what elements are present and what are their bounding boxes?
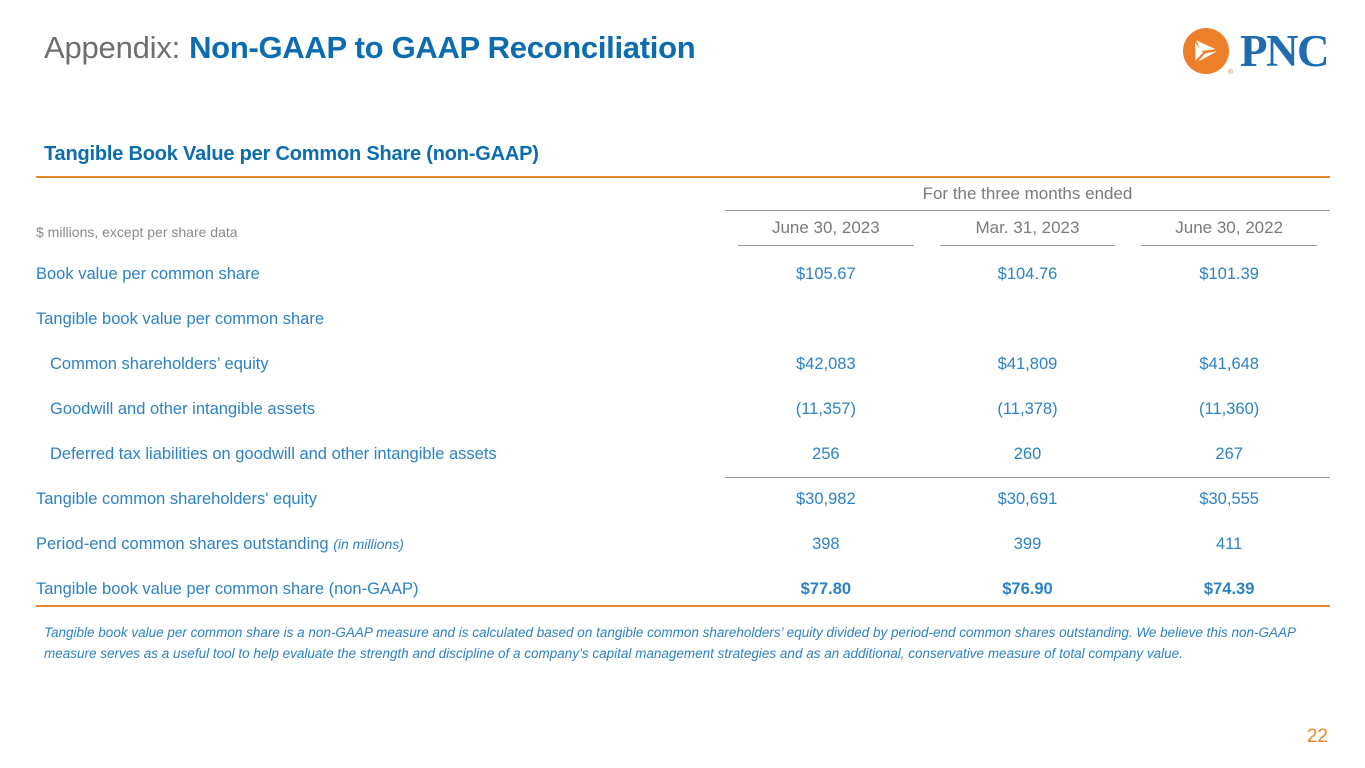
slide-root: Appendix: Non-GAAP to GAAP Reconciliatio… (0, 0, 1365, 768)
column-header-mar-31-2023: Mar. 31, 2023 (927, 212, 1129, 252)
table-body: Book value per common share $105.67 $104… (36, 252, 1330, 612)
section-heading: Tangible Book Value per Common Share (no… (44, 143, 539, 166)
row-label-text: Period-end common shares outstanding (36, 535, 329, 553)
page-number: 22 (1307, 726, 1328, 748)
row-value: (11,378) (927, 387, 1129, 432)
row-value: $104.76 (927, 252, 1129, 297)
table-head: For the three months ended $ millions, e… (36, 182, 1330, 252)
table-row: Tangible book value per common share (36, 297, 1330, 342)
row-value: $42,083 (725, 342, 927, 387)
row-value: 256 (725, 432, 927, 477)
units-note: $ millions, except per share data (36, 212, 725, 252)
row-value: 260 (927, 432, 1129, 477)
row-value: 411 (1128, 522, 1330, 567)
pnc-logo: ® PNC (1182, 27, 1328, 75)
row-value: $41,809 (927, 342, 1129, 387)
slide-header: Appendix: Non-GAAP to GAAP Reconciliatio… (0, 0, 1365, 104)
row-value: $30,691 (927, 477, 1129, 522)
table-row: Period-end common shares outstanding (in… (36, 522, 1330, 567)
row-value: (11,357) (725, 387, 927, 432)
row-label-period-end-common-shares-outstanding: Period-end common shares outstanding (in… (36, 522, 725, 567)
row-value: $41,648 (1128, 342, 1330, 387)
table-row: Goodwill and other intangible assets (11… (36, 387, 1330, 432)
row-value (1128, 297, 1330, 342)
table-span-header-row: For the three months ended (36, 182, 1330, 212)
row-value: 267 (1128, 432, 1330, 477)
row-value: (11,360) (1128, 387, 1330, 432)
row-value: 399 (927, 522, 1129, 567)
tangible-book-value-table: For the three months ended $ millions, e… (36, 182, 1330, 612)
table-row: Tangible common shareholders' equity $30… (36, 477, 1330, 522)
table-row: Deferred tax liabilities on goodwill and… (36, 432, 1330, 477)
registered-trademark-icon: ® (1228, 69, 1233, 76)
column-group-header: For the three months ended (725, 182, 1330, 212)
pnc-circle-arrow-logomark-icon: ® (1182, 27, 1230, 75)
table-row: Book value per common share $105.67 $104… (36, 252, 1330, 297)
section-rule-top (36, 176, 1330, 178)
table-row: Common shareholders’ equity $42,083 $41,… (36, 342, 1330, 387)
column-header-june-30-2023: June 30, 2023 (725, 212, 927, 252)
row-value: $30,982 (725, 477, 927, 522)
row-value: $30,555 (1128, 477, 1330, 522)
page-title-main: Non-GAAP to GAAP Reconciliation (189, 30, 695, 66)
row-value (725, 297, 927, 342)
row-value: 398 (725, 522, 927, 567)
row-label-common-shareholders-equity: Common shareholders’ equity (36, 342, 725, 387)
row-label-book-value-per-common-share: Book value per common share (36, 252, 725, 297)
row-label-deferred-tax-liabilities: Deferred tax liabilities on goodwill and… (36, 432, 725, 477)
table-column-header-row: $ millions, except per share data June 3… (36, 212, 1330, 252)
row-value: $105.67 (725, 252, 927, 297)
column-header-june-30-2022: June 30, 2022 (1128, 212, 1330, 252)
footnote-text: Tangible book value per common share is … (44, 623, 1326, 664)
row-label-tangible-book-value-per-common-share: Tangible book value per common share (36, 297, 725, 342)
section-rule-bottom (36, 605, 1330, 607)
table-head-spacer (36, 182, 725, 212)
row-label-qualifier: (in millions) (333, 536, 404, 552)
row-value (927, 297, 1129, 342)
row-label-tangible-common-shareholders-equity: Tangible common shareholders' equity (36, 477, 725, 522)
pnc-wordmark: PNC (1240, 29, 1328, 74)
row-value: $101.39 (1128, 252, 1330, 297)
row-label-goodwill-and-other-intangible-assets: Goodwill and other intangible assets (36, 387, 725, 432)
page-title: Appendix: Non-GAAP to GAAP Reconciliatio… (44, 30, 695, 66)
page-title-prefix: Appendix: (44, 30, 180, 66)
